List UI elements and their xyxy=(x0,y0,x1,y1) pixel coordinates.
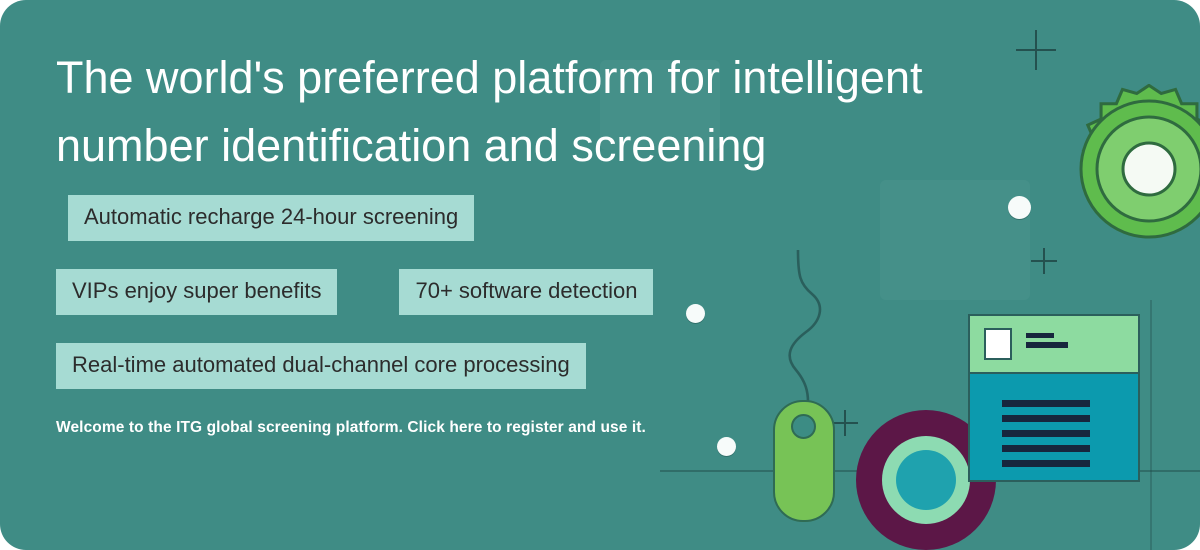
plus-accent-icon xyxy=(1035,455,1057,477)
footer-register-link[interactable]: Welcome to the ITG global screening plat… xyxy=(56,419,1200,437)
feature-chip[interactable]: Automatic recharge 24-hour screening xyxy=(68,195,474,241)
feature-chip-row: Real-time automated dual-channel core pr… xyxy=(56,343,1200,389)
feature-chip-list: Automatic recharge 24-hour screening VIP… xyxy=(56,195,1200,389)
feature-chip[interactable]: Real-time automated dual-channel core pr… xyxy=(56,343,586,389)
dot-accent-icon xyxy=(717,437,736,456)
feature-chip-row: VIPs enjoy super benefits 70+ software d… xyxy=(56,269,1200,315)
page-title: The world's preferred platform for intel… xyxy=(56,44,936,181)
banner-content: The world's preferred platform for intel… xyxy=(0,0,1200,437)
feature-chip-row: Automatic recharge 24-hour screening xyxy=(56,195,1200,241)
hero-banner: The world's preferred platform for intel… xyxy=(0,0,1200,550)
document-text-line xyxy=(1002,460,1090,467)
document-text-line xyxy=(1002,445,1090,452)
feature-chip[interactable]: 70+ software detection xyxy=(399,269,653,315)
horizontal-rule xyxy=(660,470,1200,472)
feature-chip[interactable]: VIPs enjoy super benefits xyxy=(56,269,337,315)
